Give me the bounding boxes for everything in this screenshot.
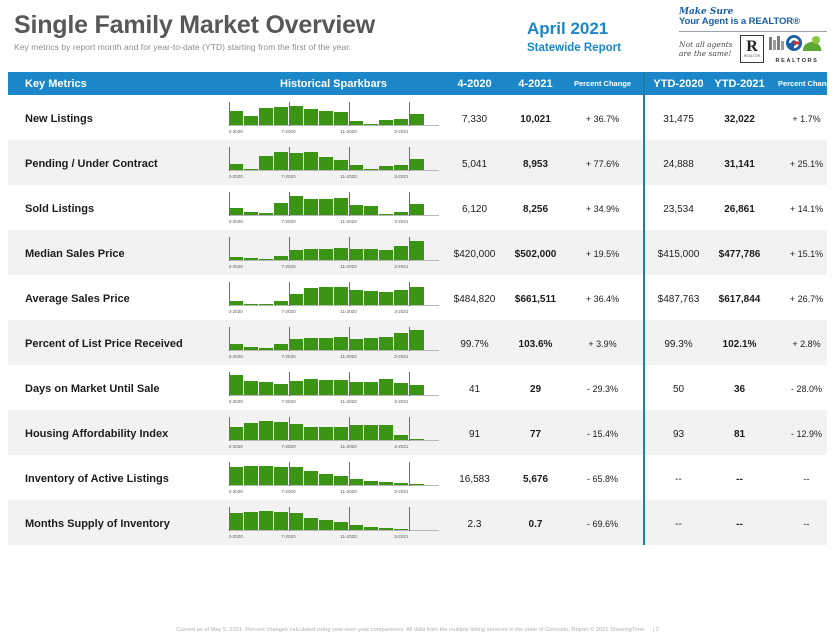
period-prior-value: 16,583 <box>459 474 490 485</box>
period-change-value-cell: + 36.7% <box>566 109 639 127</box>
sparkbar-tick-label: 7-2020 <box>281 399 295 404</box>
period-prior-value-cell: 99.7% <box>444 334 505 352</box>
sparkbar-tick <box>229 462 230 486</box>
sparkbar-bars <box>229 102 439 125</box>
sparkbar-tick <box>409 282 410 306</box>
sparkbar-bar <box>244 423 258 440</box>
period-current-value-cell: 8,256 <box>505 199 566 217</box>
table-row: Inventory of Active Listings3-20207-2020… <box>8 455 827 500</box>
ytd-prior-value: -- <box>675 474 682 485</box>
col-header-period-change: Percent Change <box>566 79 639 88</box>
sparkbar-tick-label: 11-2020 <box>340 174 357 179</box>
sparkbar-tick-label: 3-2020 <box>229 489 243 494</box>
logo-divider <box>679 31 827 32</box>
sparkbar-bar <box>394 290 408 305</box>
period-current-value: $661,511 <box>515 294 556 305</box>
period-change-value-cell: + 77.6% <box>566 154 639 172</box>
ytd-change-value: -- <box>804 519 810 529</box>
sparkbar-bar <box>304 109 318 125</box>
ytd-change-value-cell: + 25.1% <box>770 154 835 172</box>
sparkbar-tick <box>229 237 230 261</box>
ytd-change-value-cell: - 12.9% <box>770 424 835 442</box>
sparkbar-tick-label: 3-2021 <box>394 174 408 179</box>
sparkbar-bar <box>409 330 423 350</box>
period-prior-value: 99.7% <box>460 339 488 350</box>
ytd-prior-value: 93 <box>673 429 684 440</box>
sparkbar-bar <box>319 427 333 440</box>
ytd-change-value: + 26.7% <box>790 294 823 304</box>
period-change-value: - 65.8% <box>587 474 618 484</box>
sparkbar-tick <box>409 327 410 351</box>
ytd-current-value-cell: $617,844 <box>709 289 770 307</box>
sparkbar-cell: 3-20207-202011-20203-2021 <box>223 192 444 223</box>
sparkbar-bar <box>334 476 348 485</box>
sparkbar-bar <box>334 522 348 530</box>
sparkbar-bar <box>394 383 408 395</box>
sparkbar-tick <box>349 462 350 486</box>
sparkbar-cell: 3-20207-202011-20203-2021 <box>223 372 444 403</box>
ytd-prior-value-cell: 23,534 <box>648 199 709 217</box>
period-prior-value: $420,000 <box>454 249 496 260</box>
sparkbar-bar <box>409 287 423 305</box>
ytd-current-value-cell: -- <box>709 514 770 532</box>
sparkbar-baseline <box>229 170 439 171</box>
ytd-change-value: -- <box>804 474 810 484</box>
report-header: Single Family Market Overview Key metric… <box>0 0 835 72</box>
ytd-change-value: + 1.7% <box>792 114 820 124</box>
sparkbar-tick <box>289 102 290 126</box>
sparkbar-tick-label: 3-2020 <box>229 534 243 539</box>
sparkbar-baseline <box>229 485 439 486</box>
ytd-prior-value: 23,534 <box>663 204 694 215</box>
sparkbar-bar <box>319 380 333 395</box>
report-period-block: April 2021 Statewide Report <box>527 20 621 54</box>
col-header-ytd-current: YTD-2021 <box>709 78 770 90</box>
period-current-value-cell: 8,953 <box>505 154 566 172</box>
period-current-value: $502,000 <box>515 249 557 260</box>
sparkbar-tick <box>289 327 290 351</box>
sparkbar-bars <box>229 147 439 170</box>
sparkbar-bar <box>379 250 393 260</box>
ytd-prior-value-cell: 31,475 <box>648 109 709 127</box>
ytd-prior-value-cell: -- <box>648 469 709 487</box>
sparkbar-bar <box>364 338 378 350</box>
sparkbar-tick-label: 7-2020 <box>281 309 295 314</box>
sparkbar-bar <box>289 339 303 350</box>
sparkbar-bar <box>259 421 273 440</box>
period-prior-value-cell: 91 <box>444 424 505 442</box>
sparkbar-tick <box>409 102 410 126</box>
logo-tagline-line2: Your Agent is a REALTOR® <box>679 17 827 28</box>
sparkbar-bar <box>394 246 408 260</box>
ytd-change-value: + 2.8% <box>792 339 820 349</box>
sparkbar-bars <box>229 282 439 305</box>
period-current-value-cell: 77 <box>505 424 566 442</box>
table-row: Percent of List Price Received3-20207-20… <box>8 320 827 365</box>
sparkbar-baseline <box>229 395 439 396</box>
sparkbar-tick <box>229 192 230 216</box>
period-prior-value-cell: 2.3 <box>444 514 505 532</box>
ytd-current-value-cell: 36 <box>709 379 770 397</box>
sparkbar-tick <box>289 462 290 486</box>
sparkbar-tick <box>229 147 230 171</box>
sparkbar-bar <box>394 333 408 350</box>
sparkbar-bar <box>304 152 318 170</box>
period-change-value: + 77.6% <box>586 159 619 169</box>
sparkbar-baseline <box>229 260 439 261</box>
period-ytd-divider <box>643 72 645 545</box>
sparkbar-tick <box>289 372 290 396</box>
sparkbar-tick-label: 7-2020 <box>281 219 295 224</box>
sparkbar-tick-label: 11-2020 <box>340 309 357 314</box>
sparkbar-bar <box>379 379 393 395</box>
ytd-prior-value: 50 <box>673 384 684 395</box>
ytd-prior-value-cell: 50 <box>648 379 709 397</box>
ytd-prior-value: $487,763 <box>658 294 700 305</box>
sparkbar-tick <box>229 507 230 531</box>
sparkbar-bars <box>229 372 439 395</box>
period-prior-value: 6,120 <box>462 204 487 215</box>
period-current-value-cell: 29 <box>505 379 566 397</box>
sparkbar-bar <box>334 112 348 125</box>
sparkbar-bar <box>274 512 288 530</box>
ytd-prior-value-cell: -- <box>648 514 709 532</box>
sparkbar-chart: 3-20207-202011-20203-2021 <box>229 507 439 538</box>
sparkbar-bar <box>349 290 363 305</box>
sparkbar-tick <box>409 192 410 216</box>
ytd-prior-value-cell: 99.3% <box>648 334 709 352</box>
metric-label: Inventory of Active Listings <box>25 473 169 485</box>
sparkbar-bar <box>244 466 258 485</box>
table-row: Median Sales Price3-20207-202011-20203-2… <box>8 230 827 275</box>
sparkbar-bar <box>334 248 348 260</box>
period-current-value-cell: $661,511 <box>505 289 566 307</box>
sparkbar-tick-label: 7-2020 <box>281 489 295 494</box>
ytd-prior-value-cell: 24,888 <box>648 154 709 172</box>
period-change-value: + 36.4% <box>586 294 619 304</box>
colorado-association-logo: REALTORS <box>769 35 825 64</box>
sparkbar-tick-label: 7-2020 <box>281 129 295 134</box>
sparkbar-bar <box>349 205 363 215</box>
period-current-value: 0.7 <box>529 519 543 530</box>
sparkbar-chart: 3-20207-202011-20203-2021 <box>229 237 439 268</box>
sparkbar-bar <box>349 249 363 260</box>
sparkbar-tick-label: 11-2020 <box>340 489 357 494</box>
sparkbar-tick <box>409 462 410 486</box>
col-header-period-current: 4-2021 <box>505 78 566 90</box>
sparkbar-baseline <box>229 125 439 126</box>
period-change-value: - 29.3% <box>587 384 618 394</box>
sparkbar-bar <box>409 204 423 215</box>
sparkbar-chart: 3-20207-202011-20203-2021 <box>229 372 439 403</box>
metric-name-cell: Pending / Under Contract <box>8 154 223 172</box>
sparkbar-tick <box>349 102 350 126</box>
sparkbar-bar <box>319 111 333 125</box>
sparkbar-tick-label: 11-2020 <box>340 354 357 359</box>
metric-name-cell: Percent of List Price Received <box>8 334 223 352</box>
ytd-current-value: 102.1% <box>723 339 757 350</box>
sparkbar-bar <box>319 474 333 485</box>
sparkbar-tick <box>409 372 410 396</box>
metric-name-cell: Days on Market Until Sale <box>8 379 223 397</box>
market-overview-table: Key Metrics Historical Sparkbars 4-2020 … <box>8 72 827 545</box>
sparkbar-chart: 3-20207-202011-20203-2021 <box>229 327 439 358</box>
table-row: Pending / Under Contract3-20207-202011-2… <box>8 140 827 185</box>
sparkbar-bars <box>229 417 439 440</box>
sparkbar-cell: 3-20207-202011-20203-2021 <box>223 102 444 133</box>
sparkbar-bar <box>304 199 318 215</box>
sparkbar-tick-label: 7-2020 <box>281 444 295 449</box>
sparkbar-bar <box>244 116 258 125</box>
ytd-current-value: $477,786 <box>719 249 761 260</box>
sparkbar-tick-label: 3-2020 <box>229 354 243 359</box>
table-row: Days on Market Until Sale3-20207-202011-… <box>8 365 827 410</box>
col-header-key-metrics: Key Metrics <box>8 78 223 90</box>
metric-label: Pending / Under Contract <box>25 158 158 170</box>
table-row: New Listings3-20207-202011-20203-20217,3… <box>8 95 827 140</box>
logo-note-line2: are the same! <box>679 49 735 58</box>
sparkbar-tick <box>409 507 410 531</box>
sparkbar-tick-label: 3-2021 <box>394 444 408 449</box>
sparkbar-tick-label: 7-2020 <box>281 264 295 269</box>
ytd-prior-value-cell: $415,000 <box>648 244 709 262</box>
sparkbar-bar <box>289 467 303 485</box>
sparkbar-tick-label: 3-2020 <box>229 399 243 404</box>
sparkbar-tick <box>349 192 350 216</box>
sparkbar-tick <box>349 147 350 171</box>
table-row: Housing Affordability Index3-20207-20201… <box>8 410 827 455</box>
sparkbar-bar <box>304 338 318 350</box>
sparkbar-tick-label: 3-2020 <box>229 174 243 179</box>
sparkbar-tick-label: 3-2021 <box>394 219 408 224</box>
sparkbar-tick-label: 3-2020 <box>229 309 243 314</box>
period-current-value: 8,256 <box>523 204 548 215</box>
sparkbar-tick <box>409 147 410 171</box>
logo-tagline: Make Sure Your Agent is a REALTOR® <box>679 7 827 28</box>
period-change-value-cell: - 29.3% <box>566 379 639 397</box>
ytd-current-value-cell: 26,861 <box>709 199 770 217</box>
sparkbar-bar <box>364 425 378 440</box>
ytd-current-value-cell: -- <box>709 469 770 487</box>
table-row: Sold Listings3-20207-202011-20203-20216,… <box>8 185 827 230</box>
sparkbar-tick <box>349 372 350 396</box>
sparkbar-cell: 3-20207-202011-20203-2021 <box>223 237 444 268</box>
period-prior-value-cell: $484,820 <box>444 289 505 307</box>
sparkbar-bar <box>229 375 243 395</box>
sparkbar-bar <box>334 380 348 395</box>
sparkbar-tick-label: 3-2020 <box>229 129 243 134</box>
sparkbar-tick <box>409 237 410 261</box>
sparkbar-tick-label: 3-2021 <box>394 354 408 359</box>
metric-name-cell: Housing Affordability Index <box>8 424 223 442</box>
metric-label: Median Sales Price <box>25 248 125 260</box>
sparkbar-tick-label: 3-2021 <box>394 489 408 494</box>
period-prior-value: 91 <box>469 429 480 440</box>
logo-note-line1: Not all agents <box>679 40 735 49</box>
sparkbar-bar <box>334 160 348 170</box>
sparkbar-baseline <box>229 530 439 531</box>
sparkbar-chart: 3-20207-202011-20203-2021 <box>229 282 439 313</box>
metric-name-cell: Average Sales Price <box>8 289 223 307</box>
sparkbar-bar <box>259 156 273 170</box>
period-prior-value: 41 <box>469 384 480 395</box>
sparkbar-bar <box>274 384 288 396</box>
sparkbar-bar <box>409 241 423 260</box>
period-current-value-cell: 5,676 <box>505 469 566 487</box>
sparkbar-cell: 3-20207-202011-20203-2021 <box>223 462 444 493</box>
period-prior-value-cell: 5,041 <box>444 154 505 172</box>
ytd-change-value-cell: -- <box>770 514 835 532</box>
sparkbar-chart: 3-20207-202011-20203-2021 <box>229 102 439 133</box>
sparkbar-tick <box>289 282 290 306</box>
sparkbar-cell: 3-20207-202011-20203-2021 <box>223 282 444 313</box>
sparkbar-chart: 3-20207-202011-20203-2021 <box>229 417 439 448</box>
sparkbar-tick <box>409 417 410 441</box>
sparkbar-tick-label: 3-2020 <box>229 444 243 449</box>
period-prior-value-cell: $420,000 <box>444 244 505 262</box>
colorado-association-emblem-icon <box>769 35 825 52</box>
sparkbar-chart: 3-20207-202011-20203-2021 <box>229 462 439 493</box>
metric-name-cell: New Listings <box>8 109 223 127</box>
sparkbar-tick-label: 11-2020 <box>340 399 357 404</box>
period-change-value-cell: + 19.5% <box>566 244 639 262</box>
ytd-prior-value: 99.3% <box>664 339 692 350</box>
sparkbar-tick <box>229 327 230 351</box>
period-current-value-cell: 103.6% <box>505 334 566 352</box>
sparkbar-baseline <box>229 440 439 441</box>
sparkbar-bar <box>319 199 333 215</box>
table-header-row: Key Metrics Historical Sparkbars 4-2020 … <box>8 72 827 95</box>
metric-label: Days on Market Until Sale <box>25 383 160 395</box>
sparkbar-bar <box>379 337 393 350</box>
ytd-prior-value: $415,000 <box>658 249 700 260</box>
sparkbar-bar <box>319 157 333 170</box>
sparkbar-tick <box>229 372 230 396</box>
period-current-value: 10,021 <box>520 114 551 125</box>
sparkbar-bar <box>334 427 348 440</box>
table-body: New Listings3-20207-202011-20203-20217,3… <box>8 95 827 545</box>
sparkbar-tick <box>289 192 290 216</box>
period-prior-value: 5,041 <box>462 159 487 170</box>
sparkbar-tick <box>349 417 350 441</box>
period-change-value: - 15.4% <box>587 429 618 439</box>
sparkbar-tick-label: 3-2020 <box>229 219 243 224</box>
sparkbar-bar <box>289 196 303 215</box>
realtor-r-glyph: R <box>746 40 758 54</box>
ytd-change-value-cell: + 1.7% <box>770 109 835 127</box>
period-prior-value-cell: 16,583 <box>444 469 505 487</box>
ytd-current-value: -- <box>736 474 743 485</box>
realtor-r-icon: R REALTOR <box>740 35 764 63</box>
footer-text: Current as of May 5, 2021. Percent chang… <box>176 627 646 633</box>
period-change-value-cell: + 34.9% <box>566 199 639 217</box>
period-change-value: + 36.7% <box>586 114 619 124</box>
period-change-value-cell: - 15.4% <box>566 424 639 442</box>
metric-label: Average Sales Price <box>25 293 130 305</box>
sparkbar-bar <box>289 294 303 305</box>
ytd-current-value: 31,141 <box>724 159 755 170</box>
sparkbar-bar <box>244 381 258 395</box>
sparkbar-tick-label: 11-2020 <box>340 264 357 269</box>
period-current-value: 5,676 <box>523 474 548 485</box>
ytd-change-value-cell: - 28.0% <box>770 379 835 397</box>
ytd-prior-value: 31,475 <box>663 114 694 125</box>
sparkbar-tick-label: 3-2021 <box>394 309 408 314</box>
metric-name-cell: Sold Listings <box>8 199 223 217</box>
ytd-change-value: + 14.1% <box>790 204 823 214</box>
sparkbar-tick <box>349 327 350 351</box>
ytd-current-value-cell: 31,141 <box>709 154 770 172</box>
col-header-period-prior: 4-2020 <box>444 78 505 90</box>
sparkbar-bar <box>304 427 318 440</box>
realtor-r-word: REALTOR <box>744 54 760 58</box>
period-prior-value-cell: 41 <box>444 379 505 397</box>
sparkbar-tick-label: 11-2020 <box>340 534 357 539</box>
sparkbar-bar <box>409 385 423 395</box>
sparkbar-baseline <box>229 350 439 351</box>
sparkbar-baseline <box>229 215 439 216</box>
ytd-prior-value: -- <box>675 519 682 530</box>
sparkbar-bar <box>274 203 288 215</box>
sparkbar-bar <box>304 471 318 485</box>
sparkbar-bar <box>229 513 243 530</box>
period-change-value: - 69.6% <box>587 519 618 529</box>
sparkbar-tick-label: 3-2021 <box>394 399 408 404</box>
sparkbar-bar <box>259 108 273 125</box>
sparkbar-bars <box>229 462 439 485</box>
period-prior-value-cell: 6,120 <box>444 199 505 217</box>
sparkbar-tick-label: 11-2020 <box>340 129 357 134</box>
ytd-change-value: + 25.1% <box>790 159 823 169</box>
sparkbar-bar <box>409 159 423 170</box>
sparkbar-bar <box>319 338 333 350</box>
realtor-logo-lockup: Make Sure Your Agent is a REALTOR® Not a… <box>679 7 827 64</box>
sparkbar-chart: 3-20207-202011-20203-2021 <box>229 147 439 178</box>
sparkbar-bar <box>334 287 348 305</box>
report-page: Single Family Market Overview Key metric… <box>0 0 835 639</box>
sparkbar-tick <box>229 102 230 126</box>
ytd-change-value-cell: + 15.1% <box>770 244 835 262</box>
col-header-ytd-change: Percent Change <box>770 79 835 88</box>
sparkbar-tick <box>289 147 290 171</box>
period-change-value: + 19.5% <box>586 249 619 259</box>
ytd-prior-value: 24,888 <box>663 159 694 170</box>
sparkbar-tick <box>349 507 350 531</box>
sparkbar-bars <box>229 327 439 350</box>
ytd-current-value-cell: 81 <box>709 424 770 442</box>
sparkbar-bar <box>229 208 243 215</box>
sparkbar-tick <box>349 282 350 306</box>
ytd-current-value: -- <box>736 519 743 530</box>
ytd-change-value: - 28.0% <box>791 384 822 394</box>
sparkbar-bar <box>289 513 303 530</box>
sparkbar-bar <box>229 427 243 440</box>
sparkbar-bar <box>334 198 348 215</box>
footer-page-number: | 2 <box>653 627 659 633</box>
report-footer: Current as of May 5, 2021. Percent chang… <box>0 627 835 633</box>
ytd-change-value-cell: -- <box>770 469 835 487</box>
sparkbar-cell: 3-20207-202011-20203-2021 <box>223 327 444 358</box>
sparkbar-bar <box>244 512 258 530</box>
ytd-current-value: 26,861 <box>724 204 755 215</box>
sparkbar-tick <box>289 507 290 531</box>
sparkbar-bar <box>274 422 288 440</box>
ytd-current-value: 36 <box>734 384 745 395</box>
sparkbar-tick <box>289 417 290 441</box>
ytd-current-value-cell: 32,022 <box>709 109 770 127</box>
sparkbar-tick-label: 3-2021 <box>394 534 408 539</box>
metric-label: New Listings <box>25 113 93 125</box>
